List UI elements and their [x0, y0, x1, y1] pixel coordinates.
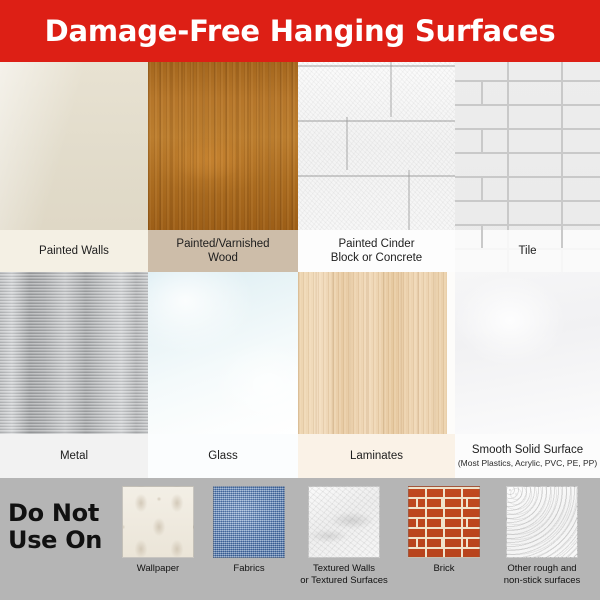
painted-walls-swatch [0, 62, 148, 230]
laminates-caption: Laminates [298, 434, 455, 478]
do-not-use-item-other-rough: Other rough and non-stick surfaces [492, 486, 592, 586]
surface-cell-laminates: Laminates [298, 272, 455, 478]
brick-swatch [408, 486, 480, 558]
do-not-use-label: Wallpaper [137, 563, 179, 575]
tile-swatch [455, 62, 600, 272]
metal-swatch [0, 272, 148, 434]
surface-label: Smooth Solid Surface [472, 443, 583, 457]
other-rough-swatch [506, 486, 578, 558]
smooth-solid-surface-caption: Smooth Solid Surface (Most Plastics, Acr… [455, 434, 600, 478]
infographic-root: Damage-Free Hanging Surfaces Painted Wal… [0, 0, 600, 600]
surface-cell-painted-cinder-block: Painted Cinder Block or Concrete [298, 62, 455, 272]
do-not-use-item-fabrics: Fabrics [207, 486, 291, 575]
page-title: Damage-Free Hanging Surfaces [45, 17, 556, 46]
wallpaper-swatch [122, 486, 194, 558]
surface-label: Glass [208, 449, 237, 463]
surface-cell-painted-walls: Painted Walls [0, 62, 148, 272]
do-not-use-label: Other rough and non-stick surfaces [504, 563, 581, 586]
surface-cell-tile: Tile [455, 62, 600, 272]
glass-caption: Glass [148, 434, 298, 478]
do-not-use-item-wallpaper: Wallpaper [116, 486, 200, 575]
fabrics-swatch [213, 486, 285, 558]
surface-label: Metal [60, 449, 88, 463]
metal-caption: Metal [0, 434, 148, 478]
surface-label: Painted Cinder Block or Concrete [331, 237, 422, 265]
surface-cell-metal: Metal [0, 272, 148, 478]
painted-varnished-wood-caption: Painted/Varnished Wood [148, 230, 298, 272]
painted-walls-caption: Painted Walls [0, 230, 148, 272]
header-banner: Damage-Free Hanging Surfaces [0, 0, 600, 62]
do-not-use-label: Textured Walls or Textured Surfaces [300, 563, 387, 586]
do-not-use-section: Do Not Use On Wallpaper Fabrics Textured… [0, 478, 600, 600]
painted-varnished-wood-swatch [148, 62, 298, 230]
do-not-use-label: Fabrics [233, 563, 264, 575]
do-not-use-item-brick: Brick [402, 486, 486, 575]
surface-cell-painted-varnished-wood: Painted/Varnished Wood [148, 62, 298, 272]
surface-cell-glass: Glass [148, 272, 298, 478]
surface-sublabel: (Most Plastics, Acrylic, PVC, PE, PP) [458, 458, 597, 468]
do-not-use-label: Brick [433, 563, 454, 575]
surface-cell-smooth-solid-surface: Smooth Solid Surface (Most Plastics, Acr… [455, 272, 600, 478]
surface-label: Laminates [350, 449, 403, 463]
smooth-solid-surface-swatch [455, 272, 600, 434]
do-not-use-title: Do Not Use On [8, 500, 118, 554]
painted-cinder-block-swatch [298, 62, 455, 230]
do-not-use-item-textured-walls: Textured Walls or Textured Surfaces [296, 486, 392, 586]
surface-label: Painted Walls [39, 244, 109, 258]
laminates-swatch [298, 272, 447, 434]
surface-label: Painted/Varnished Wood [176, 237, 269, 265]
textured-walls-swatch [308, 486, 380, 558]
glass-swatch [148, 272, 298, 434]
painted-cinder-block-caption: Painted Cinder Block or Concrete [298, 230, 455, 272]
